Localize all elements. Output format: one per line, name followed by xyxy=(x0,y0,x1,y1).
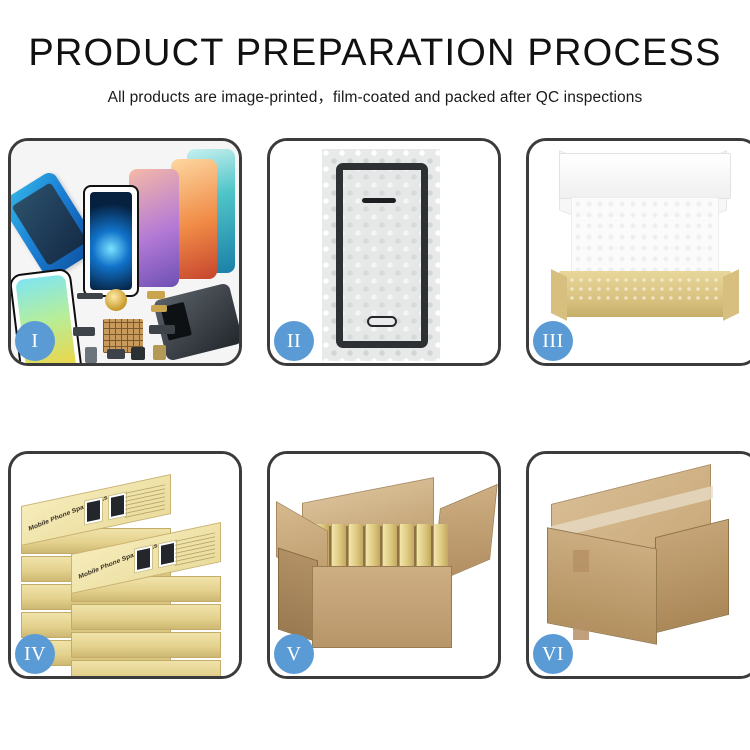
carton-front-panel-icon xyxy=(312,566,452,648)
camera-part-icon xyxy=(107,349,125,359)
page-subtitle: All products are image-printed，film-coat… xyxy=(0,85,750,107)
carton-right-panel-icon xyxy=(655,519,729,633)
step-badge-3: III xyxy=(533,321,573,361)
step-card-2: II xyxy=(267,138,501,366)
screw-part-icon xyxy=(153,345,166,360)
screen-glass-icon xyxy=(336,163,428,348)
box-checklist-icon xyxy=(125,484,165,519)
earpiece-slot-icon xyxy=(362,198,396,203)
part-strip-icon xyxy=(77,293,103,299)
box-art-phone-3-icon xyxy=(134,545,153,574)
flex-cable-2-icon xyxy=(149,325,175,334)
box-checklist-2-icon xyxy=(175,532,215,567)
gold-connector-2-icon xyxy=(151,305,167,312)
step-card-1: I xyxy=(8,138,242,366)
step-badge-5: V xyxy=(274,634,314,674)
camera-module-icon xyxy=(131,347,145,360)
gold-box-side-front-3 xyxy=(71,632,221,658)
carton-label-patch-1-icon xyxy=(573,550,589,572)
gold-box-side-front-4 xyxy=(71,604,221,630)
header: PRODUCT PREPARATION PROCESS All products… xyxy=(0,0,750,107)
home-button-icon xyxy=(367,316,397,327)
step-card-4: Mobile Phone Spare Parts Mobile Phone Sp… xyxy=(8,451,242,679)
black-screen-phone-icon xyxy=(83,185,139,297)
page-title: PRODUCT PREPARATION PROCESS xyxy=(0,34,750,74)
gold-connector-icon xyxy=(147,291,165,299)
box-art-phone-1-icon xyxy=(84,497,103,526)
carton-label-patch-2-icon xyxy=(573,618,589,640)
packed-screen-icon xyxy=(567,275,723,301)
carton-front-face-icon xyxy=(547,527,657,644)
step-badge-6: VI xyxy=(533,634,573,674)
gold-box-stack-art: Mobile Phone Spare Parts Mobile Phone Sp… xyxy=(17,480,233,666)
step-card-5: V xyxy=(267,451,501,679)
foam-padding-icon xyxy=(571,197,719,275)
step-badge-4: IV xyxy=(15,634,55,674)
step-card-3: III xyxy=(526,138,750,366)
speaker-coil-icon xyxy=(105,289,127,311)
product-preparation-infographic: PRODUCT PREPARATION PROCESS All products… xyxy=(0,0,750,750)
step-card-6: VI xyxy=(526,451,750,679)
gold-box-side-front-2 xyxy=(71,660,221,676)
step-badge-1: I xyxy=(15,321,55,361)
step-badge-2: II xyxy=(274,321,314,361)
process-step-grid: I II xyxy=(8,138,742,678)
battery-part-icon xyxy=(85,347,97,363)
box-lid-icon xyxy=(559,153,731,199)
flex-cable-icon xyxy=(73,327,95,336)
